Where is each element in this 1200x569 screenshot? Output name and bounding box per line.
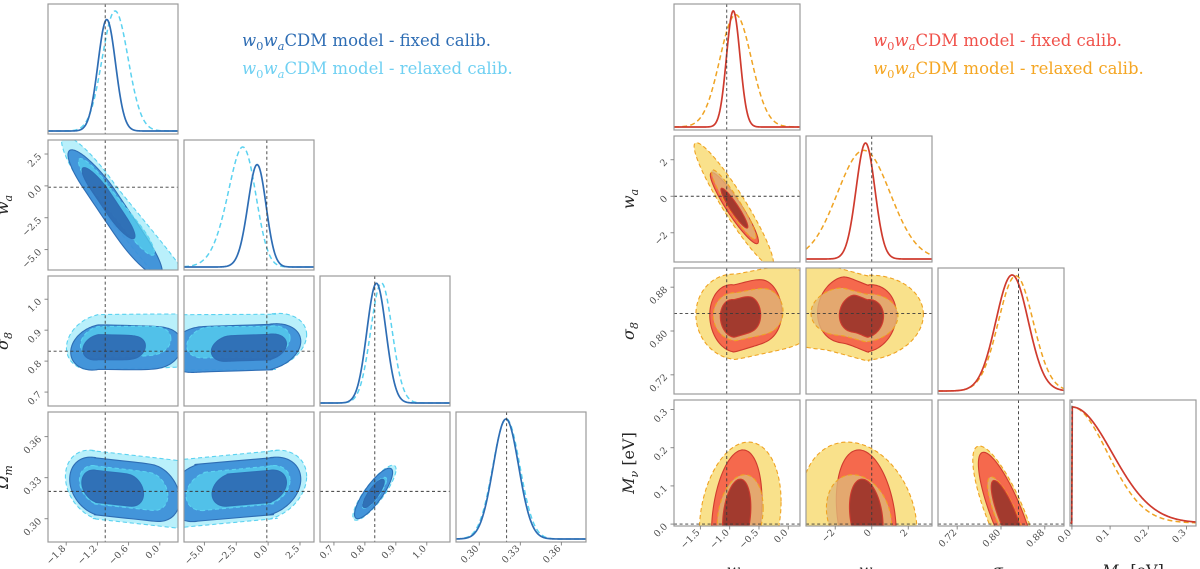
axis-title-base: w (727, 561, 741, 569)
axis-title-base: w (859, 561, 873, 569)
legend-entry-0[interactable]: w0waCDM model - fixed calib. (242, 31, 491, 53)
xaxis-Mnu: 0.00.10.20.3 (1056, 526, 1189, 546)
axis-title-y-Mnu: Mν [eV] (619, 432, 641, 495)
tick-label-sigma8: 0.80 (648, 328, 671, 351)
cell-background (320, 276, 450, 406)
tick-label-wa: −2 (820, 527, 838, 545)
axis-title-base: M (1101, 561, 1119, 569)
axis-title-Mnu: Mν [eV] (1101, 561, 1164, 569)
axis-title-base: M (619, 477, 638, 495)
legend-math-sub0: 0 (887, 39, 894, 53)
tick-label-wa: 2.5 (284, 543, 302, 561)
marginal-cell-sigma8 (320, 276, 450, 406)
tick-label-w0: −1.8 (44, 543, 68, 567)
tick-label-Omega_m: 0.33 (22, 475, 45, 498)
axis-title-suffix: [eV] (619, 432, 638, 471)
legend-math-w: w (242, 59, 256, 78)
tick-label-wa: 0 (658, 194, 670, 206)
tick-label-Omega_m: 0.36 (541, 543, 564, 566)
right-panel: −1.5−1.0−0.50.0w0−202wa0.720.800.88σ80.0… (619, 4, 1196, 569)
tick-label-w0: −0.6 (107, 543, 131, 567)
marginal-cell-w0 (48, 4, 178, 134)
tick-label-sigma8: 0.80 (981, 527, 1004, 550)
tick-label-Omega_m: 0.36 (22, 434, 45, 457)
xaxis-sigma8: 0.720.800.88 (937, 526, 1047, 550)
tick-label-sigma8: 0.88 (648, 284, 671, 307)
axis-title-base: σ (992, 561, 1004, 569)
axis-title-y-sigma8: σ8 (619, 322, 641, 340)
tick-label-wa: 0.0 (26, 183, 44, 201)
tick-label-wa: −5.0 (20, 247, 44, 271)
tick-label-sigma8: 1.0 (411, 543, 429, 561)
tick-label-Mnu: 0.1 (1094, 527, 1112, 545)
tick-label-w0: −1.5 (679, 527, 703, 551)
axis-title-y-wa: wa (619, 189, 641, 209)
tick-label-wa: −2.5 (20, 215, 44, 239)
legend-math-sub0: 0 (887, 67, 894, 81)
legend-math-w: w (873, 31, 887, 50)
legend-right-panel: w0waCDM model - fixed calib.w0waCDM mode… (873, 31, 1144, 81)
legend-entry-1[interactable]: w0waCDM model - relaxed calib. (873, 59, 1144, 81)
tick-label-wa: 2 (658, 157, 670, 169)
axis-title-sub: a (628, 189, 641, 196)
axis-title-w0: w0 (727, 561, 748, 569)
tick-label-Omega_m: 0.30 (22, 516, 45, 539)
tick-label-sigma8: 0.9 (380, 543, 398, 561)
marginal-cell-sigma8 (938, 268, 1064, 394)
axis-title-sub: 8 (2, 332, 15, 339)
legend-math-sub0: 0 (256, 39, 263, 53)
axis-title-sigma8: σ8 (992, 561, 1010, 569)
tick-label-Omega_m: 0.30 (459, 543, 482, 566)
tick-label-Mnu: 0.2 (652, 445, 670, 463)
contour-cell-sigma8-Mnu (938, 400, 1064, 569)
tick-label-wa: −5.0 (183, 543, 207, 567)
contour-cell-w0-sigma8 (674, 266, 820, 394)
tick-label-w0: −1.0 (708, 527, 732, 551)
legend-entry-text: CDM model - relaxed calib. (915, 59, 1143, 78)
axis-title-y-wa: wa (0, 195, 15, 215)
legend-entry-text: CDM model - fixed calib. (915, 31, 1122, 50)
yaxis-wa: −202 (653, 157, 674, 248)
legend-math-w2: w (263, 59, 277, 78)
marginal-cell-w0 (674, 4, 800, 130)
tick-label-Mnu: 0.0 (1056, 527, 1074, 545)
tick-label-w0: −1.2 (76, 543, 100, 567)
xaxis-Omega_m: 0.300.330.36 (459, 542, 564, 566)
yaxis-wa: −5.0−2.50.02.5 (20, 151, 48, 270)
tick-label-sigma8: 1.0 (26, 297, 44, 315)
axis-title-suffix: [eV] (1125, 561, 1164, 569)
axis-title-y-Omega_m: Ωm (0, 465, 15, 490)
contour-cell-sigma8-Omega_m (320, 412, 450, 542)
tick-label-sigma8: 0.7 (318, 543, 336, 561)
contour-cell-w0-wa (674, 136, 800, 266)
tick-label-Omega_m: 0.33 (500, 543, 523, 566)
tick-label-w0: 0.0 (772, 527, 790, 545)
tick-label-w0: 0.0 (144, 543, 162, 561)
marginal-cell-Omega_m (456, 412, 586, 542)
figure-root: −1.8−1.2−0.60.0w0−5.0−2.50.02.5wa0.70.80… (0, 0, 1200, 569)
marginal-cell-wa (184, 140, 314, 270)
left-panel: −1.8−1.2−0.60.0w0−5.0−2.50.02.5wa0.70.80… (0, 4, 586, 569)
legend-math-sub0: 0 (256, 67, 263, 81)
tick-label-sigma8: 0.9 (26, 327, 44, 345)
marginal-cell-Mnu (1070, 400, 1196, 526)
corner-plot-surface: −1.8−1.2−0.60.0w0−5.0−2.50.02.5wa0.70.80… (0, 0, 1200, 569)
legend-math-w2: w (894, 59, 908, 78)
tick-label-sigma8: 0.88 (1024, 527, 1047, 550)
xaxis-w0: −1.5−1.0−0.50.0 (679, 526, 791, 551)
legend-math-w2: w (263, 31, 277, 50)
axis-title-base: w (619, 195, 638, 209)
legend-math-w: w (873, 59, 887, 78)
tick-label-Mnu: 0.3 (652, 407, 670, 425)
tick-label-w0: −0.5 (737, 527, 761, 551)
axis-title-sub: m (2, 465, 15, 475)
contour-cell-wa-Mnu (801, 400, 932, 569)
contour-fixedcalib-inner (211, 334, 286, 361)
tick-label-sigma8: 0.8 (26, 358, 44, 376)
marginal-cell-wa (806, 136, 932, 262)
tick-label-sigma8: 0.8 (349, 543, 367, 561)
tick-label-Mnu: 0.0 (652, 521, 670, 539)
xaxis-wa: −5.0−2.50.02.5 (183, 542, 302, 567)
legend-math-w: w (242, 31, 256, 50)
yaxis-Mnu: 0.00.10.20.3 (652, 407, 674, 540)
legend-math-w2: w (894, 31, 908, 50)
legend-left-panel: w0waCDM model - fixed calib.w0waCDM mode… (242, 31, 513, 81)
xaxis-sigma8: 0.70.80.91.0 (318, 542, 429, 562)
axis-title-sub: a (2, 195, 15, 202)
tick-label-wa: 2.5 (26, 151, 44, 169)
cell-background (806, 136, 932, 262)
tick-label-wa: −2.5 (215, 543, 239, 567)
tick-label-sigma8: 0.72 (937, 527, 960, 550)
legend-entry-0[interactable]: w0waCDM model - fixed calib. (873, 31, 1122, 53)
tick-label-wa: 0.0 (252, 543, 270, 561)
cell-background (1070, 400, 1196, 526)
yaxis-sigma8: 0.720.800.88 (648, 284, 674, 394)
axis-title-base: Ω (0, 476, 12, 490)
tick-label-Mnu: 0.2 (1132, 527, 1150, 545)
legend-entry-text: CDM model - fixed calib. (284, 31, 491, 50)
tick-label-sigma8: 0.7 (26, 389, 44, 407)
yaxis-sigma8: 0.70.80.91.0 (26, 297, 48, 408)
yaxis-Omega_m: 0.300.330.36 (22, 434, 48, 539)
xaxis-w0: −1.8−1.2−0.60.0 (44, 542, 161, 567)
xaxis-wa: −202 (820, 526, 911, 545)
cell-background (48, 4, 178, 134)
axis-title-wa: wa (859, 561, 879, 569)
tick-label-sigma8: 0.72 (648, 372, 671, 395)
axis-title-base: w (0, 201, 12, 215)
tick-label-Mnu: 0.1 (652, 483, 670, 501)
legend-entry-1[interactable]: w0waCDM model - relaxed calib. (242, 59, 513, 81)
tick-label-Mnu: 0.3 (1170, 527, 1188, 545)
axis-title-sub: 8 (628, 322, 641, 329)
contour-fixedcalib-inner (83, 335, 145, 360)
legend-entry-text: CDM model - relaxed calib. (284, 59, 512, 78)
axis-title-y-sigma8: σ8 (0, 332, 15, 350)
tick-label-wa: −2 (653, 230, 671, 248)
